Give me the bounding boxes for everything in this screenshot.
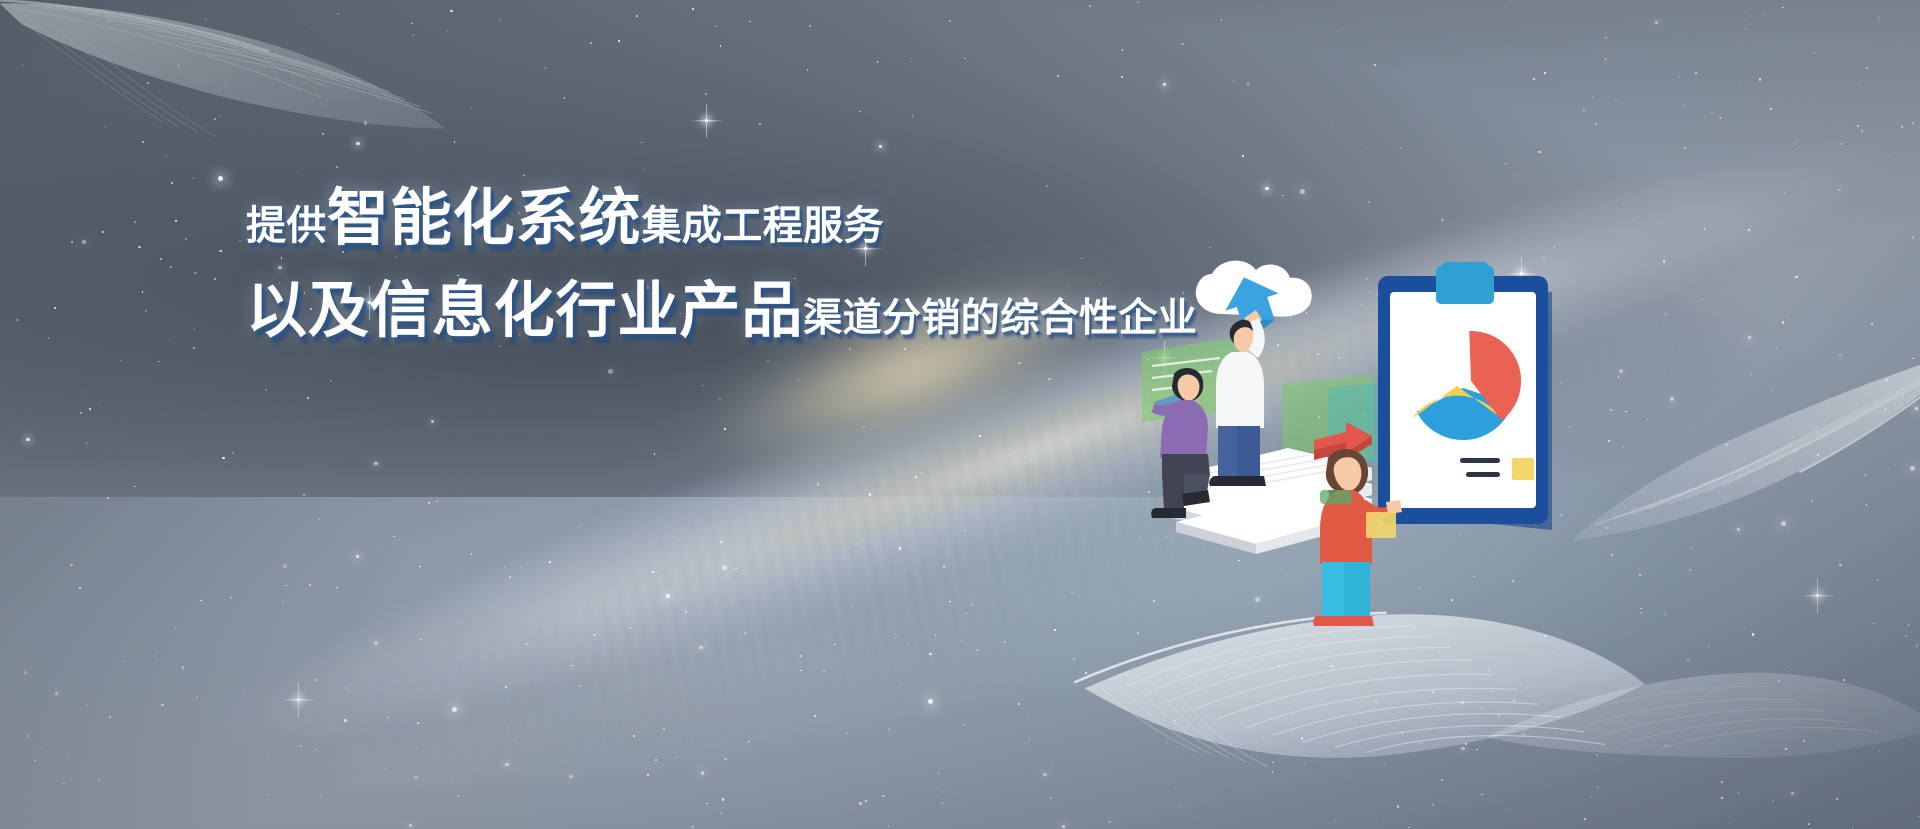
headline-line2-seg3: 渠道分销的综合性企业 bbox=[803, 299, 1197, 338]
headline: 提供 智能化系统 集成工程服务 以及 信息化行业产品 渠道分销的综合性企业 bbox=[246, 188, 1276, 341]
clip-icon bbox=[1436, 262, 1494, 304]
sticky-note bbox=[1512, 458, 1534, 480]
headline-line1-seg1: 提供 bbox=[246, 206, 327, 246]
headline-line-2: 以及 信息化行业产品 渠道分销的综合性企业 bbox=[246, 280, 1276, 341]
headline-line2-seg2: 信息化行业产品 bbox=[370, 280, 803, 341]
headline-line1-seg2: 智能化系统 bbox=[327, 188, 642, 250]
clipboard-board bbox=[1378, 262, 1552, 530]
banner-stage: 提供 智能化系统 集成工程服务 以及 信息化行业产品 渠道分销的综合性企业 bbox=[0, 0, 1920, 829]
headline-line1-seg3: 集成工程服务 bbox=[641, 206, 883, 246]
person-standing-reaching-cloud bbox=[1209, 310, 1266, 486]
headline-line-1: 提供 智能化系统 集成工程服务 bbox=[246, 188, 1276, 250]
headline-line2-seg1: 以及 bbox=[246, 280, 370, 341]
background-vignette bbox=[0, 0, 1920, 829]
business-analytics-illustration bbox=[1160, 262, 1580, 582]
